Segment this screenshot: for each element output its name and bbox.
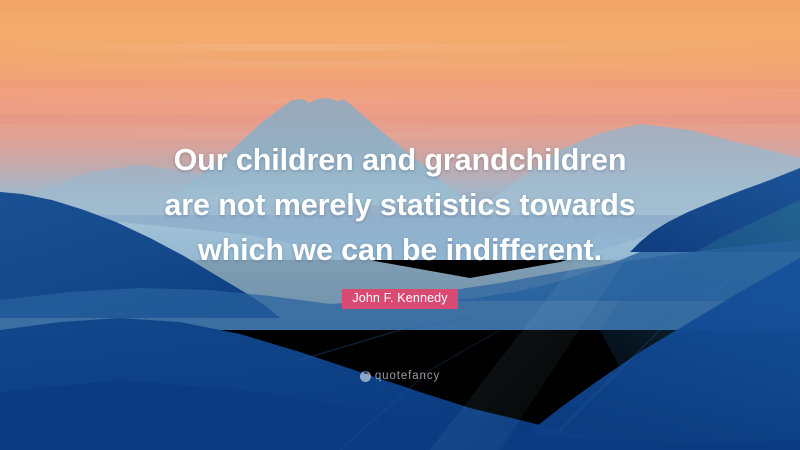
quote-line-3: which we can be indifferent. [0,228,800,273]
quote-line-1: Our children and grandchildren [0,138,800,183]
quote-line-2: are not merely statistics towards [0,183,800,228]
watermark: ❝ quotefancy [0,365,800,383]
author-attribution: John F. Kennedy [0,289,800,309]
watermark-brand: quotefancy [375,370,440,382]
quote-mark-glyph: ❝ [364,371,368,379]
quote-mark-icon: ❝ [360,371,371,382]
author-badge[interactable]: John F. Kennedy [342,289,457,309]
watermark-inner[interactable]: ❝ quotefancy [360,370,440,382]
quote-text: Our children and grandchildren are not m… [0,138,800,273]
quote-poster: Our children and grandchildren are not m… [0,0,800,450]
